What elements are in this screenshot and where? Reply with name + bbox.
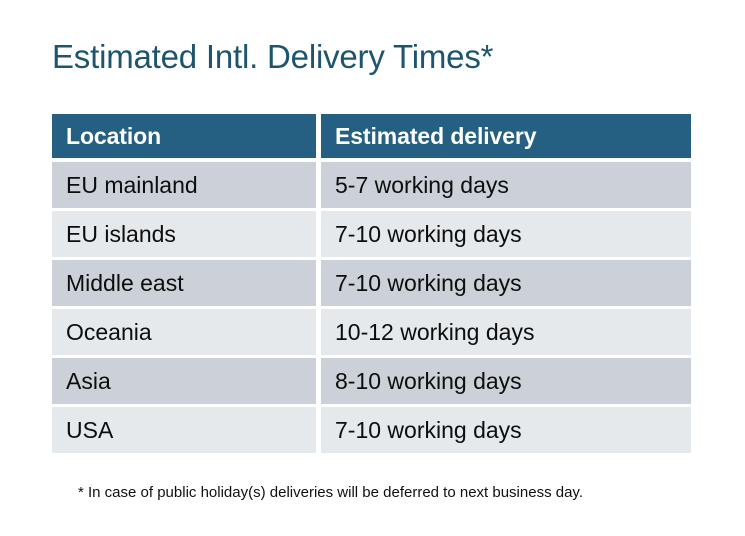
table-row: EU mainland 5-7 working days [52,162,691,208]
table-header-row: Location Estimated delivery [52,114,691,158]
cell-delivery: 7-10 working days [321,211,691,257]
cell-delivery: 10-12 working days [321,309,691,355]
table-row: EU islands 7-10 working days [52,211,691,257]
cell-delivery: 8-10 working days [321,358,691,404]
column-header-estimated-delivery: Estimated delivery [321,114,691,158]
estimated-delivery-times-table: Location Estimated delivery EU mainland … [52,114,691,456]
table-row: Asia 8-10 working days [52,358,691,404]
cell-location: EU islands [52,211,316,257]
table-row: Oceania 10-12 working days [52,309,691,355]
table-row: USA 7-10 working days [52,407,691,453]
cell-location: USA [52,407,316,453]
cell-delivery: 7-10 working days [321,407,691,453]
cell-location: Middle east [52,260,316,306]
cell-delivery: 7-10 working days [321,260,691,306]
table-row: Middle east 7-10 working days [52,260,691,306]
cell-delivery: 5-7 working days [321,162,691,208]
delivery-times-panel: Estimated Intl. Delivery Times* Location… [0,0,745,536]
column-header-location: Location [52,114,316,158]
cell-location: Asia [52,358,316,404]
cell-location: EU mainland [52,162,316,208]
cell-location: Oceania [52,309,316,355]
page-title: Estimated Intl. Delivery Times* [52,36,493,78]
footnote-text: * In case of public holiday(s) deliverie… [78,483,583,503]
